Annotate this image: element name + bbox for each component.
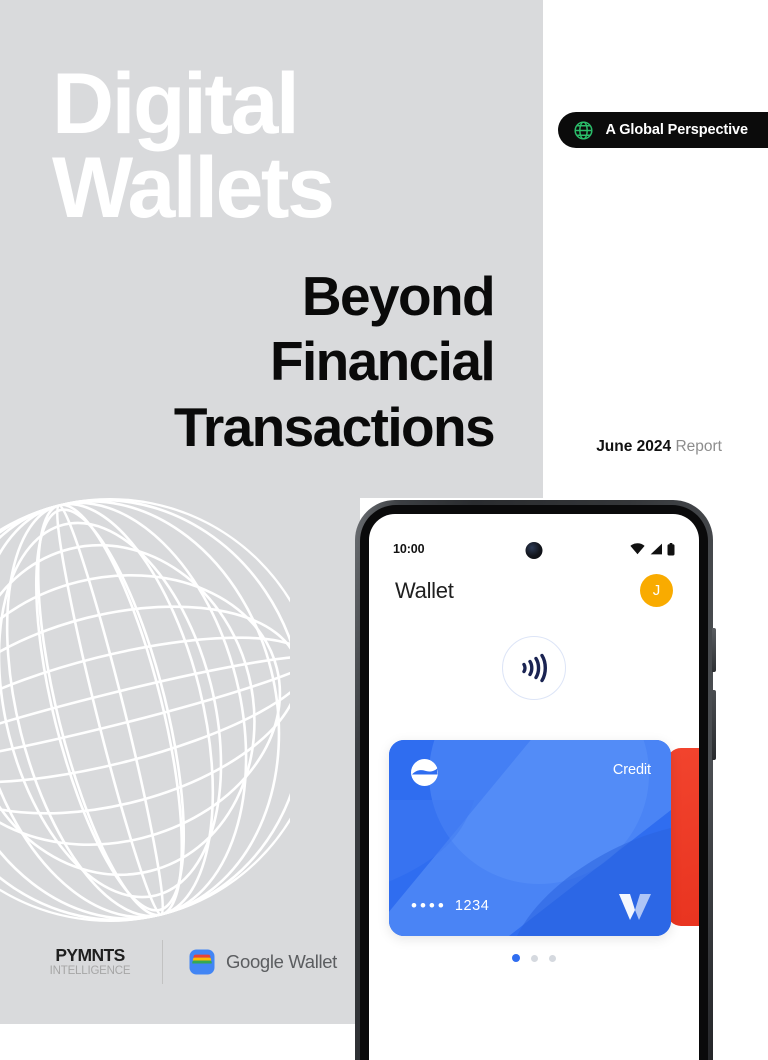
title-line-1: Digital — [52, 62, 512, 146]
front-camera-icon — [526, 542, 543, 559]
subtitle-line-1: Beyond — [174, 264, 494, 329]
phone-device-mockup: 10:00 Wallet J — [355, 500, 713, 1060]
card-carousel-pager[interactable] — [512, 954, 556, 962]
pager-dot-2[interactable] — [531, 955, 538, 962]
logo-divider — [162, 940, 163, 984]
phone-screen: 10:00 Wallet J — [369, 514, 699, 1060]
card-last-four: 1234 — [455, 898, 490, 914]
globe-icon — [573, 120, 594, 141]
avatar[interactable]: J — [640, 574, 673, 607]
pymnts-intelligence-sub: INTELLIGENCE — [44, 965, 136, 978]
subtitle-line-2: Financial — [174, 329, 494, 394]
pager-dot-3[interactable] — [549, 955, 556, 962]
wallet-card-primary[interactable]: Credit •••• 1234 — [389, 740, 671, 936]
volume-button[interactable] — [712, 690, 716, 760]
report-type-label: Report — [675, 438, 722, 455]
pymnts-wordmark: PYMNTS — [44, 946, 136, 964]
wifi-icon — [630, 543, 645, 555]
wallet-card-secondary[interactable] — [667, 748, 699, 926]
cover-title: Digital Wallets — [52, 62, 512, 231]
battery-icon — [667, 543, 675, 556]
cover-subtitle: Beyond Financial Transactions — [174, 264, 494, 460]
status-bar-time: 10:00 — [393, 542, 424, 556]
wallet-card-carousel: Credit •••• 1234 — [369, 740, 699, 970]
pymnts-intelligence-logo: PYMNTS INTELLIGENCE — [44, 946, 136, 978]
pager-dot-1[interactable] — [512, 954, 520, 962]
wallet-app-header: Wallet J — [369, 574, 699, 607]
report-month-year: June 2024 — [596, 438, 671, 455]
status-bar-icons — [630, 543, 675, 556]
circle-slash-logo — [409, 757, 440, 788]
wallet-app-title: Wallet — [395, 578, 454, 604]
google-wallet-logo: Google Wallet — [189, 949, 337, 975]
footer-logo-row: PYMNTS INTELLIGENCE Google Wallet — [44, 940, 337, 984]
card-masked-number: •••• 1234 — [411, 897, 489, 914]
google-wallet-label: Google Wallet — [226, 951, 337, 973]
card-type-label: Credit — [613, 762, 651, 778]
v-network-logo — [617, 890, 653, 922]
subtitle-line-3: Transactions — [174, 395, 494, 460]
contactless-icon — [502, 636, 566, 700]
signal-icon — [649, 543, 663, 555]
power-button[interactable] — [712, 628, 716, 672]
report-date-line: June 2024 Report — [596, 438, 722, 456]
title-line-2: Wallets — [52, 146, 512, 230]
card-mask-dots: •••• — [411, 897, 447, 914]
google-wallet-icon — [189, 949, 215, 975]
global-perspective-label: A Global Perspective — [605, 122, 748, 138]
global-perspective-badge: A Global Perspective — [558, 112, 768, 148]
